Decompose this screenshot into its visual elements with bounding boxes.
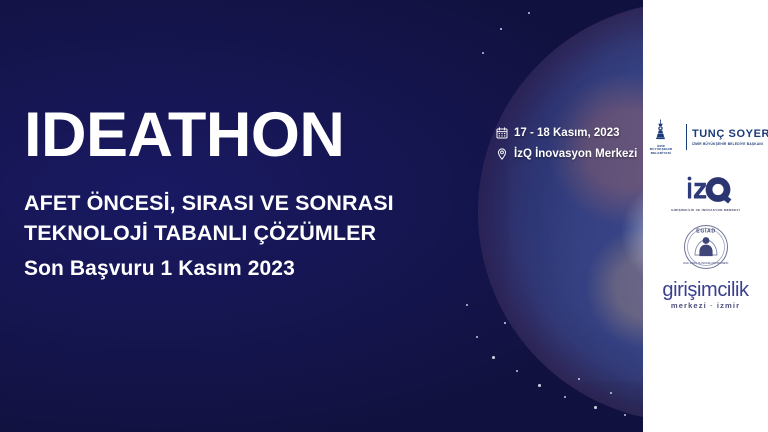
application-deadline: Son Başvuru 1 Kasım 2023 <box>24 257 494 281</box>
mayor-name: TUNÇ SOYER <box>692 128 768 140</box>
municipality-line-3: BELEDİYESİ <box>651 151 671 155</box>
izmir-clock-tower-icon <box>653 118 668 144</box>
event-venue-row: İzQ İnovasyon Merkezi <box>496 145 637 163</box>
girisimcilik-subtitle-left: merkezi <box>671 301 707 310</box>
sponsor-panel: İZMİR BÜYÜKŞEHİR BELEDİYESİ TUNÇ SOYER İ… <box>643 0 768 432</box>
event-date-text: 17 - 18 Kasım, 2023 <box>514 127 620 139</box>
event-venue-text: İzQ İnovasyon Merkezi <box>514 148 637 160</box>
mayor-role: İZMİR BÜYÜKŞEHİR BELEDİYE BAŞKANI <box>692 142 768 146</box>
girisimcilik-wordmark: girişimcilik <box>662 280 748 300</box>
subtitle-line-1: AFET ÖNCESİ, SIRASI VE SONRASI <box>24 189 494 219</box>
municipality-mayor-lockup: İZMİR BÜYÜKŞEHİR BELEDİYESİ TUNÇ SOYER İ… <box>641 116 768 158</box>
page-title: IDEATHON <box>24 104 494 167</box>
egiad-emblem-icon: EGİAD EGE GENÇ İŞ İNSANLARI DERNEĞİ <box>683 224 729 270</box>
izq-logo-icon <box>679 172 733 206</box>
event-meta: 17 - 18 Kasım, 2023 İzQ İnovasyon Merkez… <box>496 124 637 166</box>
mayor-lockup: TUNÇ SOYER İZMİR BÜYÜKŞEHİR BELEDİYE BAŞ… <box>692 128 768 146</box>
subtitle-line-2: TEKNOLOJİ TABANLI ÇÖZÜMLER <box>24 219 494 249</box>
municipality-logo-text: İZMİR BÜYÜKŞEHİR BELEDİYESİ <box>650 145 672 156</box>
egiad-sub: EGE GENÇ İŞ İNSANLARI DERNEĞİ <box>683 262 728 265</box>
girisimcilik-merkezi-logo: girişimcilik merkezi - izmir <box>662 280 748 310</box>
calendar-icon <box>496 127 508 139</box>
event-date-row: 17 - 18 Kasım, 2023 <box>496 124 637 142</box>
ideathon-poster: IDEATHON AFET ÖNCESİ, SIRASI VE SONRASI … <box>0 0 768 432</box>
poster-copy: IDEATHON AFET ÖNCESİ, SIRASI VE SONRASI … <box>24 104 494 281</box>
egiad-label: EGİAD <box>696 228 715 235</box>
lockup-divider <box>686 124 687 150</box>
location-pin-icon <box>496 148 508 160</box>
izq-logo: GİRİŞİMCİLİK VE İNOVASYON MERKEZİ <box>671 172 740 212</box>
girisimcilik-subtitle-dash: - <box>710 301 714 310</box>
girisimcilik-subtitle-right: izmir <box>717 301 740 310</box>
izq-subtitle: GİRİŞİMCİLİK VE İNOVASYON MERKEZİ <box>671 208 740 212</box>
izmir-municipality-logo: İZMİR BÜYÜKŞEHİR BELEDİYESİ <box>641 118 681 156</box>
girisimcilik-subtitle: merkezi - izmir <box>671 301 740 310</box>
egiad-logo: EGİAD EGE GENÇ İŞ İNSANLARI DERNEĞİ <box>683 224 729 270</box>
